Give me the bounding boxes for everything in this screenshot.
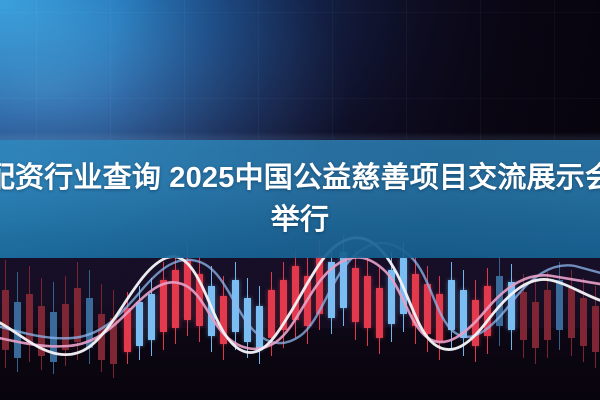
banner-image: 配资行业查询 2025中国公益慈善项目交流展示会 举行: [0, 0, 600, 400]
caption-line-2: 举行: [271, 199, 329, 241]
caption-text: 配资行业查询 2025中国公益慈善项目交流展示会 举行: [0, 140, 600, 258]
ma-blue-line: [0, 243, 600, 343]
caption-line-1: 配资行业查询 2025中国公益慈善项目交流展示会: [0, 157, 600, 199]
